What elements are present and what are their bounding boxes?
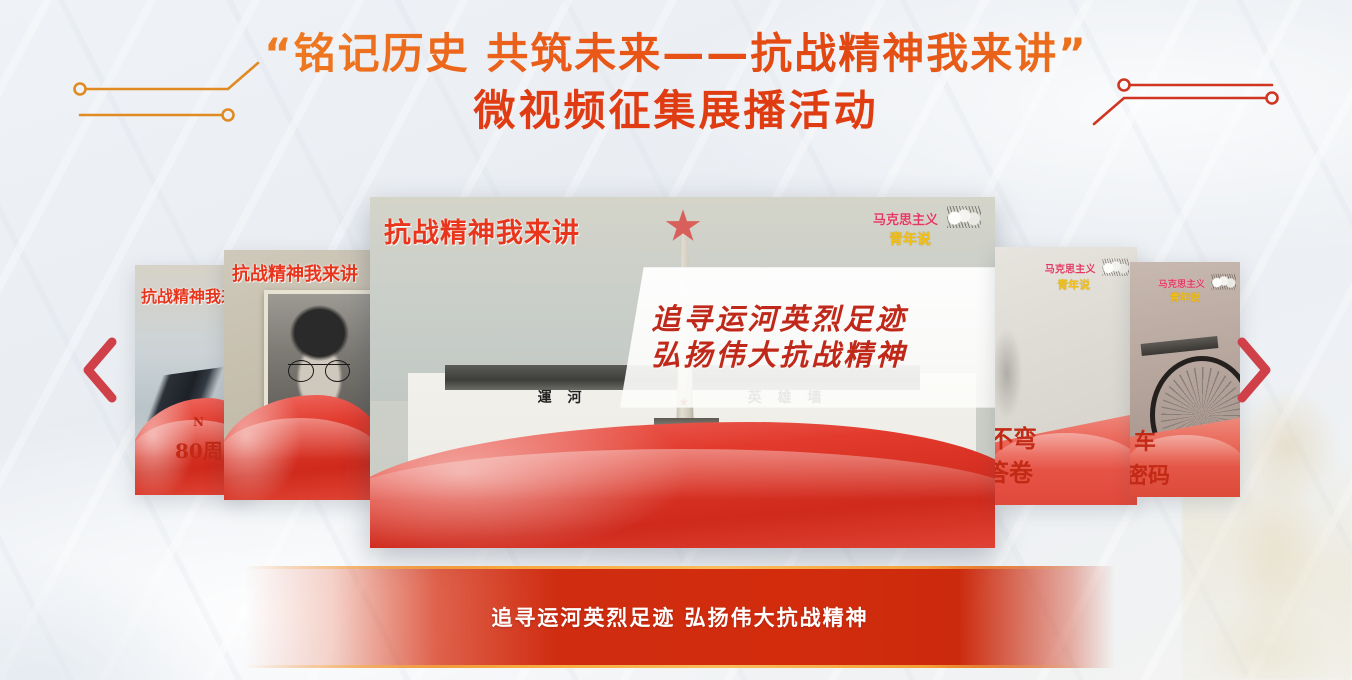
card-caption-line2: 密码 (1130, 458, 1170, 490)
wall-text-left: 運 河 (538, 387, 588, 407)
video-carousel[interactable]: 抗战精神我来讲 80周 N 抗战精神我来讲 運 河 英 雄 墙 (0, 185, 1352, 565)
card-caption-small: N (193, 415, 204, 429)
logo-line2: 青年说 (889, 229, 981, 249)
brand-logo: 马克思主义 青年说 (873, 209, 981, 253)
logo-line2: 青年说 (1170, 290, 1236, 304)
card-caption-line1: 车 (1134, 424, 1156, 456)
carousel-next-button[interactable] (1222, 330, 1282, 410)
brand-logo: 马克思主义 青年说 (1045, 261, 1129, 295)
headline-line2: 弘扬伟大抗战精神 (651, 337, 995, 373)
logo-line2: 青年说 (1057, 277, 1129, 293)
carousel-card-portrait[interactable]: 抗战精神我来讲 (224, 250, 376, 500)
card-kicker-label: 抗战精神我来讲 (384, 211, 580, 250)
headline-line1: 追寻运河英烈足迹 (651, 301, 995, 337)
carousel-prev-button[interactable] (72, 330, 132, 410)
decorative-lines-left (72, 50, 272, 130)
carousel-card-active-canal-heroes[interactable]: 運 河 英 雄 墙 抗战精神我来讲 马克思主义 青年说 追寻运河英烈足迹 弘扬伟… (370, 197, 995, 548)
glasses-icon (288, 364, 350, 379)
marx-faces-icon (1212, 274, 1236, 290)
carousel-card-wall[interactable]: 马克思主义 青年说 不弯 答卷 (995, 247, 1137, 505)
card-kicker-label: 抗战精神我来讲 (232, 260, 358, 286)
card-caption-label: 80周 (175, 435, 223, 464)
card-caption-line2: 答卷 (995, 453, 1033, 488)
marx-faces-icon (1102, 259, 1129, 276)
wall-shadow (995, 319, 1029, 427)
decorative-lines-right (1080, 50, 1280, 130)
card-caption-line1: 不弯 (995, 419, 1037, 454)
marx-faces-icon (947, 206, 981, 228)
caption-text: 追寻运河英烈足迹 弘扬伟大抗战精神 (245, 566, 1115, 668)
headline-banner: 追寻运河英烈足迹 弘扬伟大抗战精神 (620, 267, 995, 407)
brand-logo: 马克思主义 青年说 (1158, 276, 1236, 308)
caption-bar: 追寻运河英烈足迹 弘扬伟大抗战精神 (245, 566, 1115, 668)
